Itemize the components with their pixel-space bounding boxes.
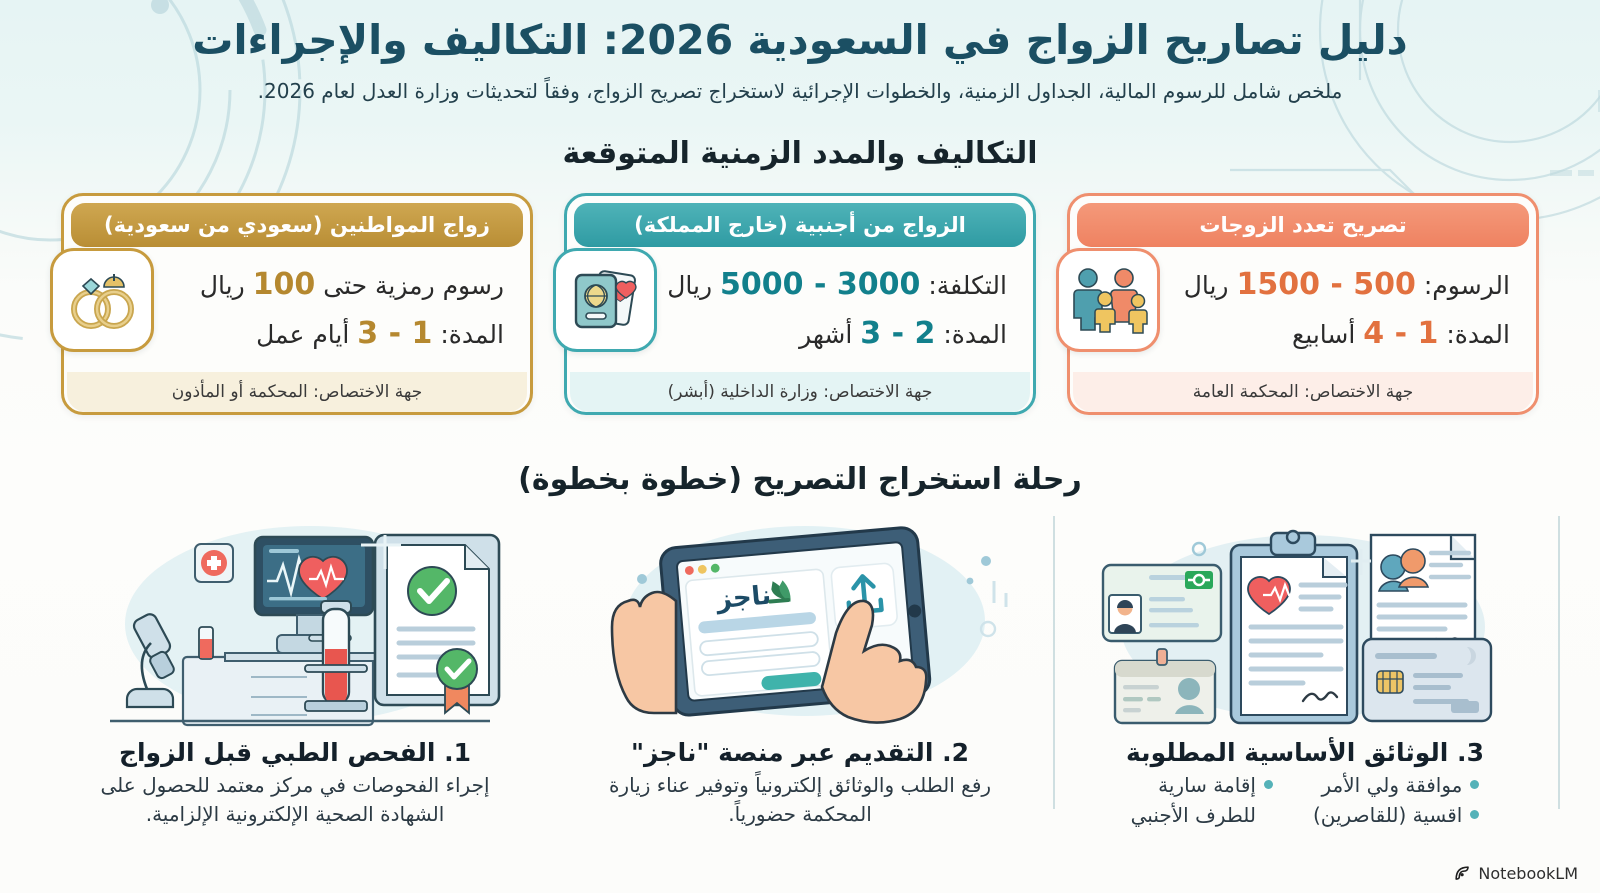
cost-cards-row: زواج المواطنين (سعودي من سعودية) رسوم رم… <box>0 193 1600 415</box>
fee-value: 3000 - 5000 <box>720 267 920 302</box>
costs-section-heading: التكاليف والمدد الزمنية المتوقعة <box>0 136 1600 171</box>
fee-label: التكلفة: <box>928 271 1007 300</box>
card-authority: جهة الاختصاص: المحكمة العامة <box>1073 372 1533 412</box>
notebooklm-logo-icon <box>1453 864 1472 883</box>
documents-illustration <box>1063 508 1548 730</box>
infographic-page: دليل تصاريح الزواج في السعودية 2026: الت… <box>0 0 1600 893</box>
duration-label: المدة: <box>440 320 504 349</box>
bullet-dot-icon <box>1264 780 1273 789</box>
duration-value: 2 - 3 <box>860 316 935 351</box>
card-title: الزواج من أجنبية (خارج المملكة) <box>574 203 1026 247</box>
step-required-documents: 3. الوثائق الأساسية المطلوبة موافقة ولي … <box>1053 508 1558 829</box>
bullet-text: موافقة ولي الأمر <box>1322 771 1463 799</box>
fee-value: 100 <box>253 267 316 302</box>
family-icon <box>1056 248 1160 352</box>
page-subtitle: ملخص شامل للرسوم المالية، الجداول الزمني… <box>0 77 1600 105</box>
fee-label: رسوم رمزية حتى <box>323 271 504 300</box>
watermark: NotebookLM <box>1453 864 1578 883</box>
list-item: موافقة ولي الأمر <box>1313 771 1479 799</box>
bullet-column-left: إقامة سارية للطرف الأجنبي <box>1131 771 1273 829</box>
page-title: دليل تصاريح الزواج في السعودية 2026: الت… <box>0 14 1600 67</box>
duration-value: 1 - 3 <box>357 316 432 351</box>
card-title: تصريح تعدد الزوجات <box>1077 203 1529 247</box>
bullet-text: إقامة سارية <box>1158 771 1256 799</box>
step-title: 3. الوثائق الأساسية المطلوبة <box>1063 738 1548 767</box>
bullet-dot-icon <box>1470 780 1479 789</box>
bullet-text: للطرف الأجنبي <box>1131 801 1256 829</box>
card-citizen-marriage: زواج المواطنين (سعودي من سعودية) رسوم رم… <box>61 193 533 415</box>
bullet-text: اقسية (للقاصرين) <box>1313 801 1462 829</box>
najiz-tablet-illustration: ناجز <box>558 508 1043 730</box>
step-medical-exam: 1. الفحص الطبي قبل الزواج إجراء الفحوصات… <box>43 508 548 829</box>
duration-label: المدة: <box>943 320 1007 349</box>
duration-unit: أيام عمل <box>256 320 349 349</box>
watermark-label: NotebookLM <box>1478 864 1578 883</box>
fee-value: 500 - 1500 <box>1236 267 1415 302</box>
medical-lab-illustration <box>53 508 538 730</box>
fee-label: الرسوم: <box>1424 271 1510 300</box>
duration-unit: أشهر <box>799 320 852 349</box>
fee-unit: ريال <box>1184 271 1229 300</box>
card-authority: جهة الاختصاص: المحكمة أو المأذون <box>67 372 527 412</box>
wedding-rings-icon <box>50 248 154 352</box>
steps-row: 1. الفحص الطبي قبل الزواج إجراء الفحوصات… <box>0 508 1600 829</box>
list-item: اقسية (للقاصرين) <box>1313 801 1479 829</box>
fee-unit: ريال <box>200 271 245 300</box>
bullet-dot-icon <box>1470 810 1479 819</box>
card-authority: جهة الاختصاص: وزارة الداخلية (أبشر) <box>570 372 1030 412</box>
duration-value: 1 - 4 <box>1363 316 1438 351</box>
duration-unit: أسابيع <box>1292 320 1355 349</box>
card-title: زواج المواطنين (سعودي من سعودية) <box>71 203 523 247</box>
header: دليل تصاريح الزواج في السعودية 2026: الت… <box>0 0 1600 105</box>
list-item: إقامة سارية <box>1131 771 1273 799</box>
step-description: إجراء الفحوصات في مركز معتمد للحصول على … <box>53 771 538 829</box>
step-najiz-submission: ناجز <box>548 508 1053 829</box>
fee-unit: ريال <box>667 271 712 300</box>
journey-section-heading: رحلة استخراج التصريح (خطوة بخطوة) <box>0 462 1600 497</box>
step-description: رفع الطلب والوثائق إلكترونياً وتوفير عنا… <box>558 771 1043 829</box>
list-item: للطرف الأجنبي <box>1131 801 1273 829</box>
step-title: 2. التقديم عبر منصة "ناجز" <box>558 738 1043 767</box>
duration-label: المدة: <box>1446 320 1510 349</box>
card-polygamy-permit: تصريح تعدد الزوجات الرسوم: 500 - 1500 ري… <box>1067 193 1539 415</box>
card-foreign-marriage: الزواج من أجنبية (خارج المملكة) التكلفة:… <box>564 193 1036 415</box>
step-title: 1. الفحص الطبي قبل الزواج <box>53 738 538 767</box>
documents-bullets: موافقة ولي الأمر اقسية (للقاصرين) إقامة … <box>1063 771 1548 829</box>
bullet-column-right: موافقة ولي الأمر اقسية (للقاصرين) <box>1313 771 1479 829</box>
passport-icon <box>553 248 657 352</box>
svg-text:ناجز: ناجز <box>714 580 773 615</box>
